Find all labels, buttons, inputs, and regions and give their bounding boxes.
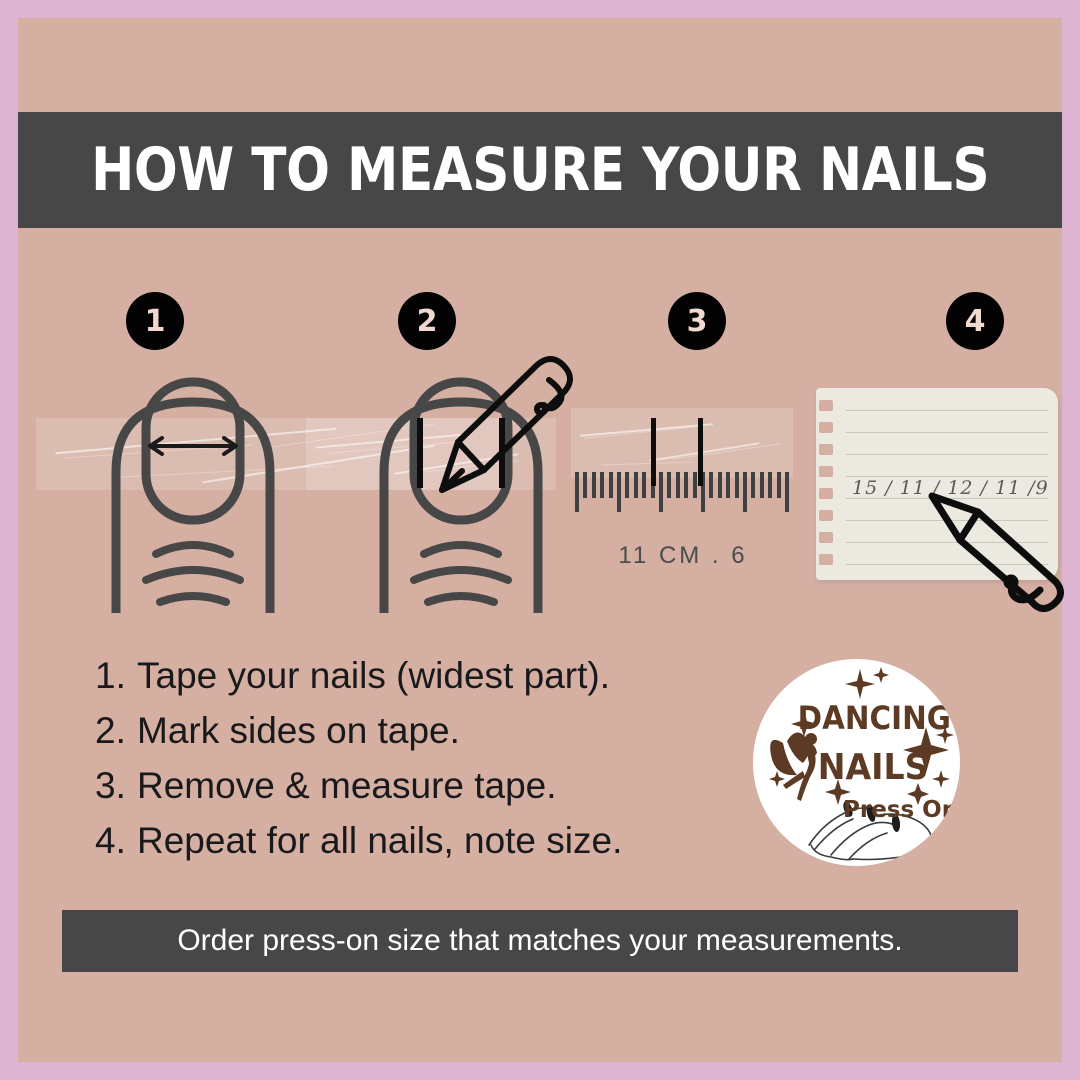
ruler-tick xyxy=(625,472,629,498)
list-item-text: Remove & measure tape. xyxy=(137,765,557,807)
ruler-tick xyxy=(751,472,755,498)
ruler-tick xyxy=(600,472,604,498)
logo-line-press-on: Press On xyxy=(843,797,958,823)
page-title: HOW TO MEASURE YOUR NAILS xyxy=(91,135,989,205)
ruler-tick xyxy=(743,472,747,512)
ruler-tick xyxy=(592,472,596,498)
ruler-tick xyxy=(709,472,713,498)
title-banner: HOW TO MEASURE YOUR NAILS xyxy=(18,112,1062,228)
tape-mark-right xyxy=(698,418,703,486)
step-3: 3 11 CM . 6 xyxy=(553,280,813,630)
ruler-tick xyxy=(617,472,621,512)
list-item-text: Mark sides on tape. xyxy=(137,710,460,752)
ruler-tick xyxy=(760,472,764,498)
ruler-tick xyxy=(726,472,730,498)
footer-banner: Order press-on size that matches your me… xyxy=(62,910,1018,972)
step-4-number-badge: 4 xyxy=(946,292,1004,350)
footer-text: Order press-on size that matches your me… xyxy=(177,924,902,958)
finger-with-width-arrow-icon xyxy=(98,368,288,613)
infographic-canvas: HOW TO MEASURE YOUR NAILS 1 xyxy=(0,0,1080,1080)
ruler-tick xyxy=(659,472,663,512)
measurement-label: 11 CM . 6 xyxy=(553,542,813,570)
logo-line-dancing: DANCING xyxy=(798,699,951,737)
list-item-number: 4. xyxy=(95,820,137,862)
ruler-tick xyxy=(634,472,638,498)
ruler-tick xyxy=(735,472,739,498)
ruler-tick xyxy=(676,472,680,498)
tape-mark-left xyxy=(651,418,656,486)
list-item: 1. Tape your nails (widest part). xyxy=(95,655,715,710)
step-1: 1 xyxy=(58,280,318,630)
ruler-tick xyxy=(583,472,587,498)
list-item: 4. Repeat for all nails, note size. xyxy=(95,820,715,875)
ruler-tick xyxy=(718,472,722,498)
list-item-number: 2. xyxy=(95,710,137,752)
list-item-text: Repeat for all nails, note size. xyxy=(137,820,622,862)
tape-strip-icon xyxy=(571,408,793,478)
step-2: 2 xyxy=(318,280,568,630)
ruler-tick xyxy=(777,472,781,498)
brand-logo: DANCING NAILS Press On xyxy=(753,659,960,866)
ruler-tick xyxy=(684,472,688,498)
step-1-number-badge: 1 xyxy=(126,292,184,350)
ruler-tick xyxy=(768,472,772,498)
step-4: 4 15 / 11 / 12 / 11 /9 xyxy=(808,280,1068,630)
step-2-number-badge: 2 xyxy=(398,292,456,350)
logo-line-nails: NAILS xyxy=(818,747,929,788)
ruler-tick xyxy=(667,472,671,498)
ruler-tick xyxy=(693,472,697,498)
list-item: 2. Mark sides on tape. xyxy=(95,710,715,765)
ruler-tick xyxy=(609,472,613,498)
list-item-number: 3. xyxy=(95,765,137,807)
pencil-icon xyxy=(418,350,583,515)
list-item-number: 1. xyxy=(95,655,137,697)
list-item-text: Tape your nails (widest part). xyxy=(137,655,610,697)
ruler-tick xyxy=(642,472,646,498)
step-3-number-badge: 3 xyxy=(668,292,726,350)
instruction-list: 1. Tape your nails (widest part). 2. Mar… xyxy=(95,655,715,875)
steps-row: 1 xyxy=(18,280,1062,630)
ruler-tick xyxy=(785,472,789,512)
pencil-icon xyxy=(926,490,1068,622)
list-item: 3. Remove & measure tape. xyxy=(95,765,715,820)
